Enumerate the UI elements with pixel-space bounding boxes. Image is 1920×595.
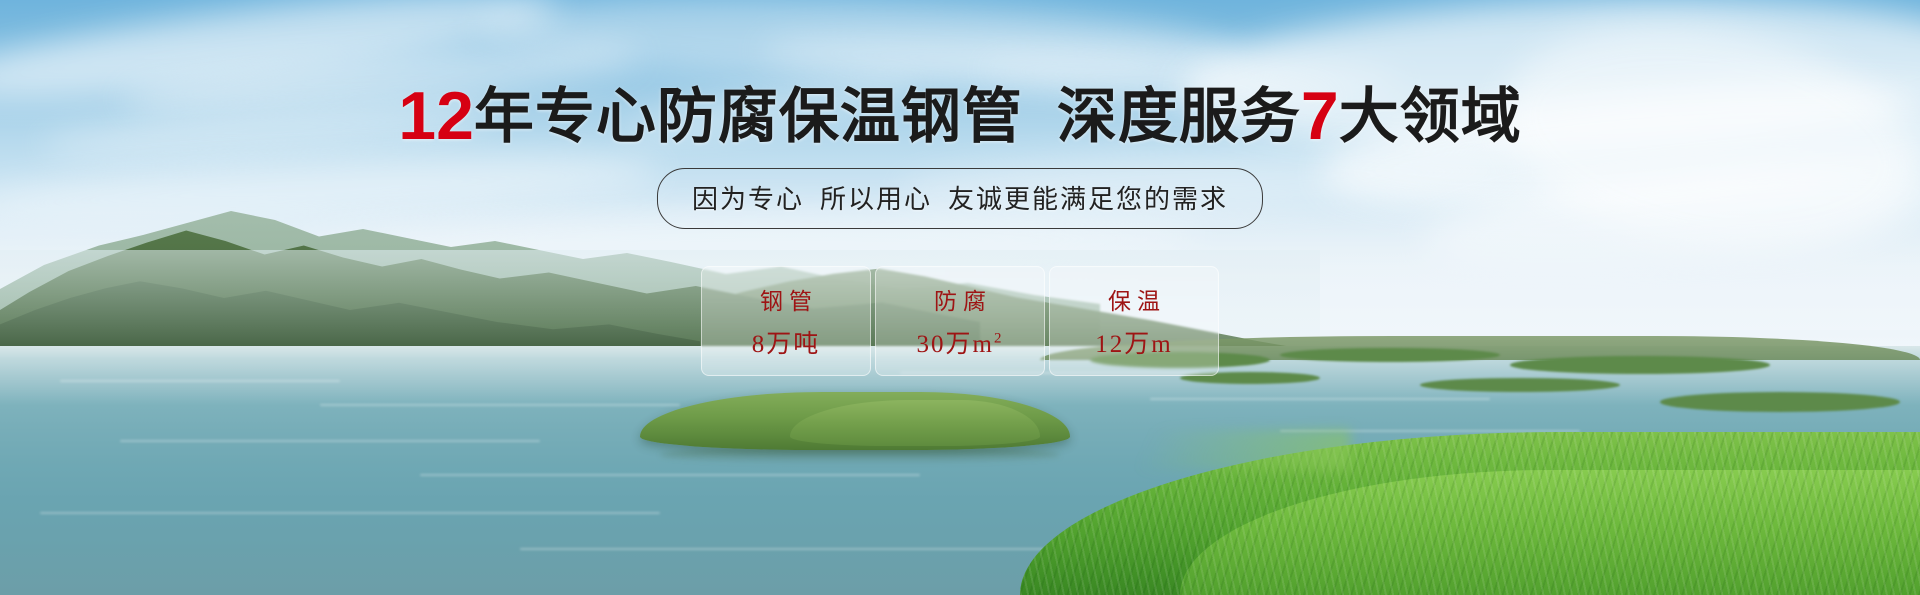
stat-card-title: 防腐 [928,282,992,316]
headline-text-secondary: 深度服务 [1057,83,1301,150]
stat-card-title: 钢管 [754,282,818,316]
stat-card-insulation[interactable]: 保温 12万m [1049,266,1219,376]
headline-text-primary: 年专心防腐保温钢管 [474,83,1023,150]
promo-banner: 12年专心防腐保温钢管深度服务7大领域 因为专心所以用心友诚更能满足您的需求 钢… [0,0,1920,595]
stat-card-value-text: 12万m [1095,331,1172,358]
headline-text-tertiary: 大领域 [1339,83,1522,150]
headline-years-number: 12 [398,78,474,154]
stat-card-anticorrosion[interactable]: 防腐 30万m2 [875,266,1045,376]
subtitle-segment-2: 所以用心 [820,184,932,214]
stat-card-value: 30万m2 [917,324,1004,360]
headline: 12年专心防腐保温钢管深度服务7大领域 [0,82,1920,150]
headline-fields-number: 7 [1301,78,1339,154]
subtitle-pill: 因为专心所以用心友诚更能满足您的需求 [657,168,1263,229]
stat-card-value: 8万吨 [752,324,821,360]
stat-card-group: 钢管 8万吨 防腐 30万m2 保温 12万m [701,266,1219,376]
banner-content: 12年专心防腐保温钢管深度服务7大领域 因为专心所以用心友诚更能满足您的需求 钢… [0,0,1920,595]
stat-card-value-exponent: 2 [994,331,1004,347]
stat-card-value-text: 8万吨 [752,331,821,358]
subtitle-segment-1: 因为专心 [692,184,804,214]
stat-card-value-text: 30万m [917,331,994,358]
subtitle-segment-3: 友诚更能满足您的需求 [948,184,1228,214]
stat-card-steel-pipe[interactable]: 钢管 8万吨 [701,266,871,376]
stat-card-value: 12万m [1095,324,1172,360]
stat-card-title: 保温 [1102,282,1166,316]
